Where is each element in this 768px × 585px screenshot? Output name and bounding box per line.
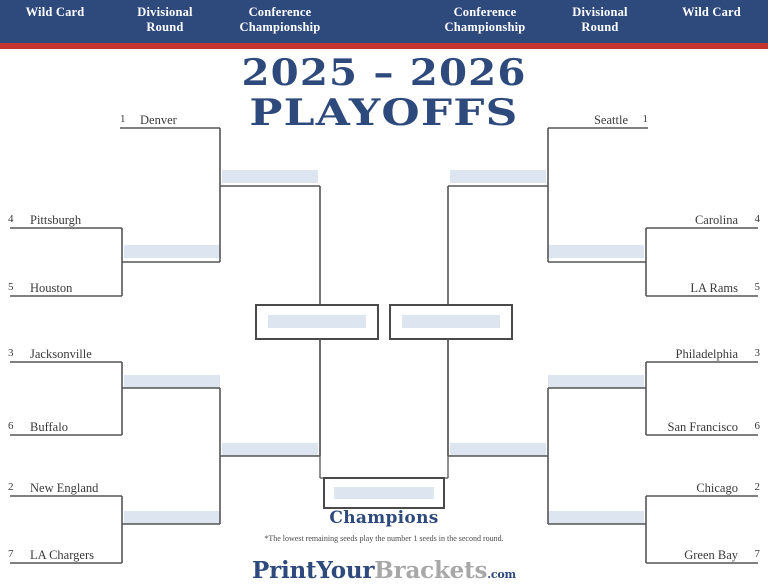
playoff-bracket-page: Wild CardDivisional RoundConference Cham… bbox=[0, 0, 768, 585]
team-name-left-2[interactable]: Houston bbox=[30, 281, 72, 296]
seed-number-right-5: 2 bbox=[755, 481, 761, 493]
team-name-right-0[interactable]: Seattle bbox=[594, 113, 628, 128]
seed-number-right-3: 3 bbox=[755, 347, 761, 359]
seed-number-left-5: 2 bbox=[8, 481, 14, 493]
team-name-left-3[interactable]: Jacksonville bbox=[30, 347, 92, 362]
team-name-left-5[interactable]: New England bbox=[30, 481, 98, 496]
team-name-left-4[interactable]: Buffalo bbox=[30, 420, 68, 435]
team-name-right-1[interactable]: Carolina bbox=[695, 213, 738, 228]
team-name-left-0[interactable]: Denver bbox=[140, 113, 177, 128]
right-divisional-slot-2-fill[interactable] bbox=[548, 375, 644, 388]
left-conference-championship-fill[interactable] bbox=[268, 315, 366, 328]
team-name-right-4[interactable]: San Francisco bbox=[668, 420, 738, 435]
logo-part-brackets: Brackets bbox=[374, 557, 487, 584]
left-divisional-slot-1-fill[interactable] bbox=[124, 245, 220, 258]
left-conference-slot-upper-fill[interactable] bbox=[222, 170, 318, 183]
team-name-right-5[interactable]: Chicago bbox=[696, 481, 738, 496]
right-conference-slot-lower-fill[interactable] bbox=[450, 443, 546, 456]
seed-number-left-1: 4 bbox=[8, 213, 14, 225]
right-divisional-slot-1-fill[interactable] bbox=[548, 245, 644, 258]
logo-part-print-your: PrintYour bbox=[252, 557, 374, 584]
left-divisional-slot-2-fill[interactable] bbox=[124, 375, 220, 388]
printyourbrackets-logo[interactable]: PrintYourBrackets.com bbox=[0, 557, 768, 584]
champions-label: Champions bbox=[0, 508, 768, 528]
seed-number-right-0: 1 bbox=[643, 113, 649, 125]
team-name-right-3[interactable]: Philadelphia bbox=[676, 347, 739, 362]
logo-part-dotcom: .com bbox=[487, 568, 516, 581]
seed-number-left-4: 6 bbox=[8, 420, 14, 432]
champion-slot-fill[interactable] bbox=[334, 487, 434, 499]
seed-number-left-3: 3 bbox=[8, 347, 14, 359]
right-conference-championship-fill[interactable] bbox=[402, 315, 500, 328]
seed-number-right-1: 4 bbox=[755, 213, 761, 225]
seed-number-right-2: 5 bbox=[755, 281, 761, 293]
left-conference-slot-lower-fill[interactable] bbox=[222, 443, 318, 456]
seed-number-left-0: 1 bbox=[120, 113, 126, 125]
right-conference-slot-upper-fill[interactable] bbox=[450, 170, 546, 183]
bracket-lines bbox=[0, 0, 768, 585]
team-name-left-1[interactable]: Pittsburgh bbox=[30, 213, 81, 228]
footnote-text: *The lowest remaining seeds play the num… bbox=[0, 534, 768, 543]
seed-number-left-2: 5 bbox=[8, 281, 14, 293]
seed-number-right-4: 6 bbox=[755, 420, 761, 432]
team-name-right-2[interactable]: LA Rams bbox=[690, 281, 738, 296]
